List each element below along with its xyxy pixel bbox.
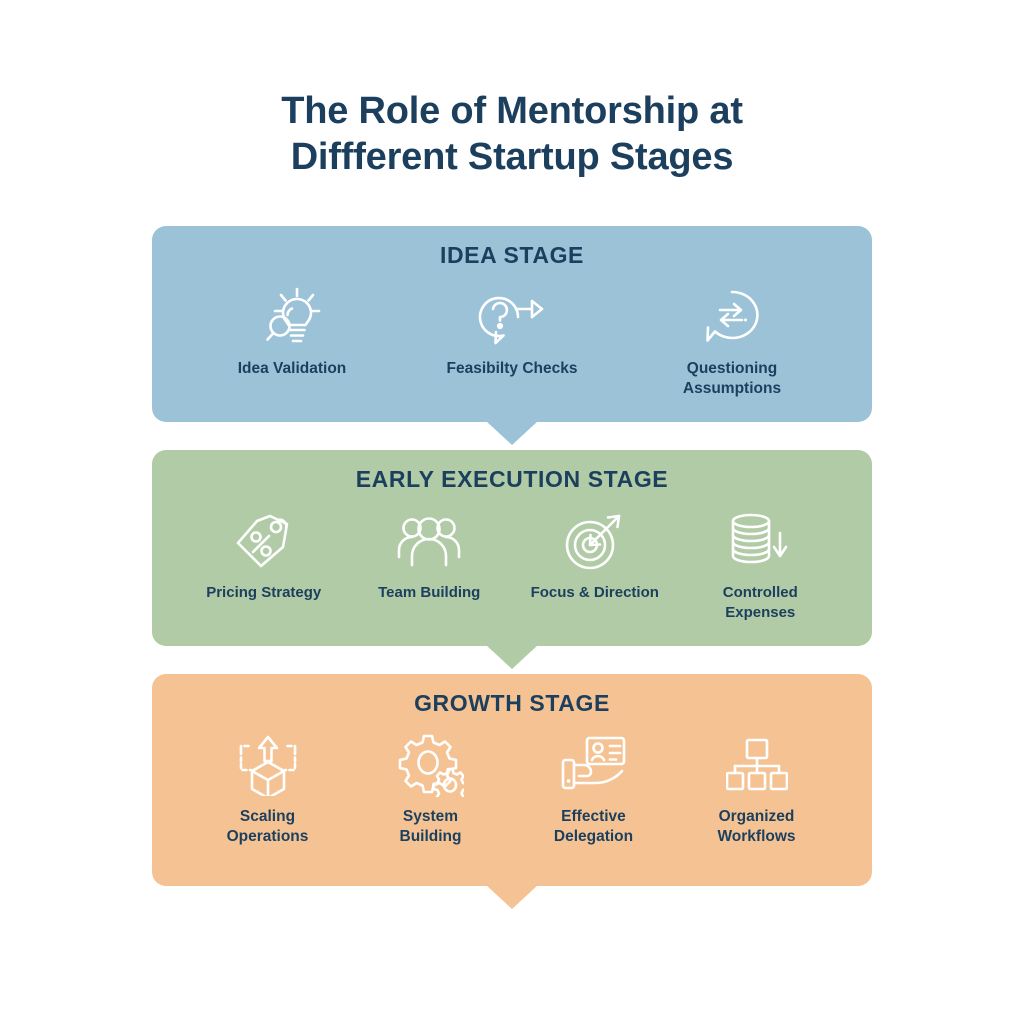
target-arrow-icon bbox=[552, 503, 638, 579]
people-group-icon bbox=[386, 503, 472, 579]
cube-scale-up-icon bbox=[225, 727, 311, 803]
page-title: The Role of Mentorship at Diffferent Sta… bbox=[0, 88, 1024, 180]
stage-block-early-execution: EARLY EXECUTION STAGE bbox=[152, 450, 872, 674]
item-label: Team Building bbox=[378, 583, 480, 603]
item-questioning-assumptions[interactable]: Questioning Assumptions bbox=[657, 279, 807, 399]
org-chart-icon bbox=[714, 727, 800, 803]
stage-panel-idea[interactable]: IDEA STAGE bbox=[152, 226, 872, 422]
item-feasibility-checks[interactable]: Feasibilty Checks bbox=[437, 279, 587, 379]
item-label: Focus & Direction bbox=[531, 583, 659, 603]
item-label: Idea Validation bbox=[238, 359, 347, 379]
question-bubble-arrow-icon bbox=[469, 279, 555, 355]
gears-icon bbox=[388, 727, 474, 803]
connector-growth-end bbox=[152, 886, 872, 914]
item-team-building[interactable]: Team Building bbox=[356, 503, 504, 603]
stage-title-early-execution: EARLY EXECUTION STAGE bbox=[170, 466, 854, 493]
price-tag-percent-icon bbox=[221, 503, 307, 579]
item-pricing-strategy[interactable]: Pricing Strategy bbox=[190, 503, 338, 603]
item-controlled-expenses[interactable]: Controlled Expenses bbox=[687, 503, 835, 623]
hand-id-card-icon bbox=[551, 727, 637, 803]
stage-items-early-execution: Pricing Strategy bbox=[170, 503, 854, 623]
stage-items-growth: Scaling Operations System Building bbox=[170, 727, 854, 847]
item-label: System Building bbox=[400, 807, 462, 847]
connector-idea-to-early bbox=[152, 422, 872, 450]
item-focus-direction[interactable]: Focus & Direction bbox=[521, 503, 669, 603]
title-line-1: The Role of Mentorship at bbox=[0, 88, 1024, 134]
stage-block-growth: GROWTH STAGE bbox=[152, 674, 872, 914]
item-label: Controlled Expenses bbox=[687, 583, 835, 623]
stage-items-idea: Idea Validation bbox=[170, 279, 854, 399]
item-label: Feasibilty Checks bbox=[447, 359, 578, 379]
infographic-canvas: The Role of Mentorship at Diffferent Sta… bbox=[0, 0, 1024, 1024]
item-label: Effective Delegation bbox=[554, 807, 633, 847]
item-label: Questioning Assumptions bbox=[683, 359, 781, 399]
coin-stack-down-arrow-icon bbox=[717, 503, 803, 579]
stage-title-idea: IDEA STAGE bbox=[170, 242, 854, 269]
item-scaling-operations[interactable]: Scaling Operations bbox=[200, 727, 335, 847]
stage-panel-early-execution[interactable]: EARLY EXECUTION STAGE bbox=[152, 450, 872, 646]
item-label: Organized Workflows bbox=[717, 807, 795, 847]
item-system-building[interactable]: System Building bbox=[363, 727, 498, 847]
connector-early-to-growth bbox=[152, 646, 872, 674]
lightbulb-magnifier-icon bbox=[249, 279, 335, 355]
item-label: Pricing Strategy bbox=[206, 583, 321, 603]
stage-stack: IDEA STAGE bbox=[152, 226, 872, 914]
item-idea-validation[interactable]: Idea Validation bbox=[217, 279, 367, 379]
stage-title-growth: GROWTH STAGE bbox=[170, 690, 854, 717]
item-organized-workflows[interactable]: Organized Workflows bbox=[689, 727, 824, 847]
stage-block-idea: IDEA STAGE bbox=[152, 226, 872, 450]
item-effective-delegation[interactable]: Effective Delegation bbox=[526, 727, 661, 847]
stage-panel-growth[interactable]: GROWTH STAGE bbox=[152, 674, 872, 886]
item-label: Scaling Operations bbox=[227, 807, 309, 847]
title-line-2: Diffferent Startup Stages bbox=[0, 134, 1024, 180]
speech-bubble-exchange-icon bbox=[689, 279, 775, 355]
